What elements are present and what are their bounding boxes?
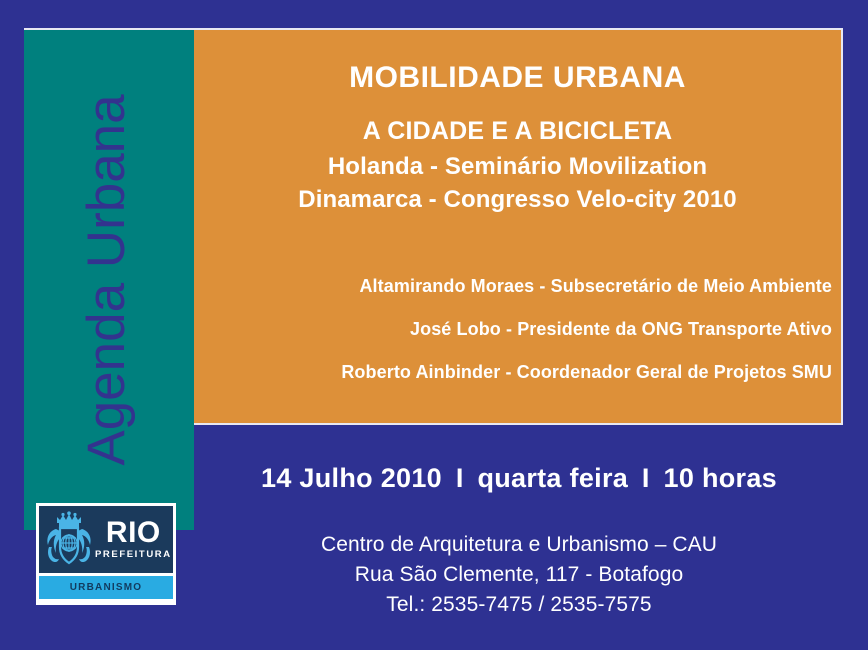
logo-department-strip: URBANISMO [39,576,173,599]
logo-wordmark: RIO PREFEITURA [95,519,174,560]
event-date: 14 Julho 2010 [261,463,442,493]
sidebar-panel: Agenda Urbana [24,28,194,530]
event-poster: Agenda Urbana MOBILIDADE URBANA A CIDADE… [0,0,868,650]
rio-prefeitura-logo: RIO PREFEITURA URBANISMO [36,503,176,605]
speaker-item: Roberto Ainbinder - Coordenador Geral de… [194,362,832,383]
logo-subtitle-text: PREFEITURA [95,549,172,560]
venue-block: Centro de Arquitetura e Urbanismo – CAU … [194,530,844,619]
event-weekday: quarta feira [477,463,628,493]
venue-address: Rua São Clemente, 117 - Botafogo [194,560,844,590]
speaker-item: José Lobo - Presidente da ONG Transporte… [194,319,832,340]
event-time: 10 horas [664,463,777,493]
poster-subheadline-line2: Holanda - Seminário Movilization [194,153,841,181]
logo-department-text: URBANISMO [70,582,142,593]
speaker-item: Altamirando Moraes - Subsecretário de Me… [194,276,832,297]
datetime-separator: I [636,463,656,494]
event-datetime: 14 Julho 2010 I quarta feira I 10 horas [194,463,844,494]
datetime-separator: I [450,463,470,494]
main-content-panel: MOBILIDADE URBANA A CIDADE E A BICICLETA… [194,28,843,425]
rio-coat-of-arms-icon [43,511,95,569]
venue-phone: Tel.: 2535-7475 / 2535-7575 [194,590,844,620]
sidebar-vertical-title: Agenda Urbana [24,30,194,530]
poster-subheadline-line3: Dinamarca - Congresso Velo-city 2010 [194,186,841,214]
venue-name: Centro de Arquitetura e Urbanismo – CAU [194,530,844,560]
poster-subheadline: A CIDADE E A BICICLETA [194,117,841,146]
logo-main-block: RIO PREFEITURA [39,506,173,573]
poster-headline: MOBILIDADE URBANA [194,61,841,95]
speaker-list: Altamirando Moraes - Subsecretário de Me… [194,276,841,383]
logo-brand-text: RIO [106,519,161,548]
